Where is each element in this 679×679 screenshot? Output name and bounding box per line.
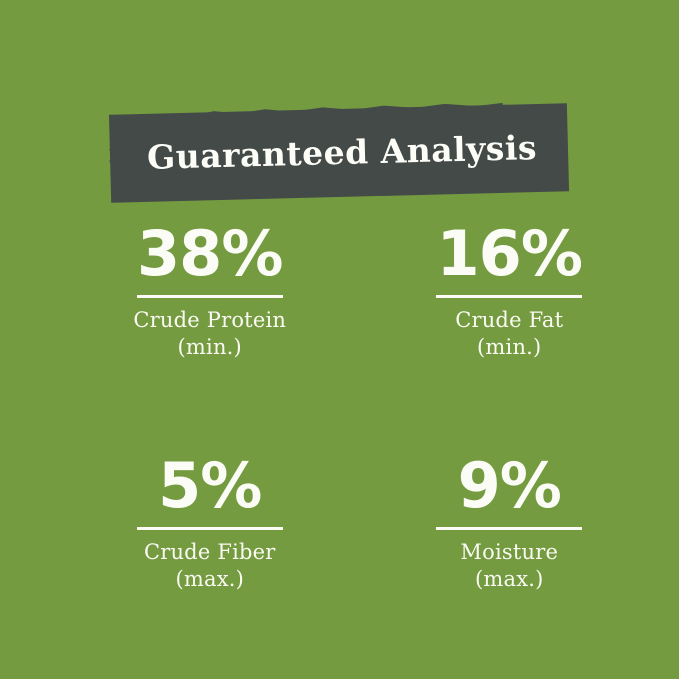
stat-qualifier: (max.) bbox=[475, 566, 544, 592]
analysis-row: 38% Crude Protein (min.) 16% Crude Fat (… bbox=[0, 222, 679, 361]
analysis-row: 5% Crude Fiber (max.) 9% Moisture (max.) bbox=[0, 454, 679, 593]
stat-moisture: 9% Moisture (max.) bbox=[340, 454, 679, 593]
stat-divider bbox=[436, 295, 582, 298]
stat-value: 9% bbox=[458, 454, 561, 518]
stat-qualifier: (max.) bbox=[175, 566, 244, 592]
header-banner: Guaranteed Analysis bbox=[104, 100, 574, 204]
stat-divider bbox=[137, 527, 283, 530]
stat-value: 38% bbox=[137, 222, 282, 286]
analysis-grid: 38% Crude Protein (min.) 16% Crude Fat (… bbox=[0, 222, 679, 592]
stat-value: 5% bbox=[158, 454, 261, 518]
stat-label: Crude Protein bbox=[133, 307, 286, 333]
page-title: Guaranteed Analysis bbox=[103, 94, 575, 210]
stat-label: Crude Fat bbox=[455, 307, 563, 333]
stat-divider bbox=[436, 527, 582, 530]
stat-qualifier: (min.) bbox=[477, 334, 541, 360]
stat-label: Moisture bbox=[460, 539, 558, 565]
stat-crude-fiber: 5% Crude Fiber (max.) bbox=[0, 454, 340, 593]
banner-rotation-group: Guaranteed Analysis bbox=[103, 94, 575, 210]
stat-divider bbox=[137, 295, 283, 298]
stat-crude-protein: 38% Crude Protein (min.) bbox=[0, 222, 340, 361]
stat-qualifier: (min.) bbox=[178, 334, 242, 360]
stat-value: 16% bbox=[437, 222, 582, 286]
guaranteed-analysis-panel: Guaranteed Analysis 38% Crude Protein (m… bbox=[0, 0, 679, 679]
stat-label: Crude Fiber bbox=[144, 539, 276, 565]
stat-crude-fat: 16% Crude Fat (min.) bbox=[340, 222, 679, 361]
